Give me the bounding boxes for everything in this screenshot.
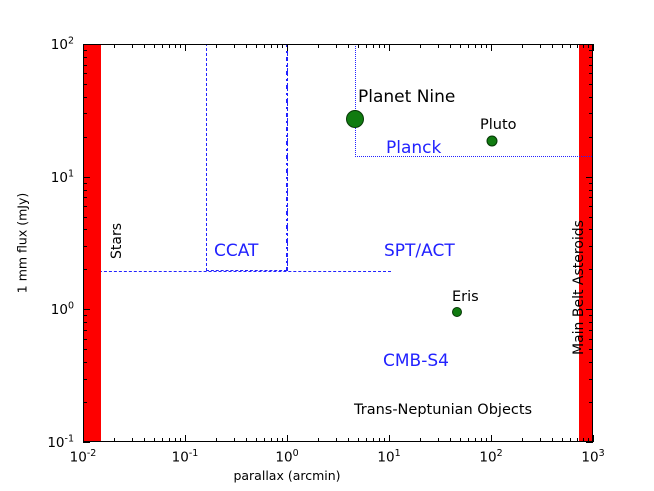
- y-tick-minor: [589, 315, 593, 316]
- x-tick-minor: [234, 438, 235, 442]
- label-spt-act: SPT/ACT: [384, 241, 455, 261]
- y-tick-minor: [83, 113, 87, 114]
- y-tick-minor: [83, 349, 87, 350]
- x-tick-minor: [348, 44, 349, 48]
- y-tick-minor: [83, 197, 87, 198]
- y-tick-minor: [83, 330, 87, 331]
- y-tick-minor: [83, 229, 87, 230]
- x-tick-minor: [144, 44, 145, 48]
- x-tick-major: [287, 435, 288, 442]
- y-tick-minor: [83, 137, 87, 138]
- x-tick-minor: [282, 44, 283, 48]
- y-tick-label: 10-1: [47, 433, 74, 451]
- x-tick-minor: [169, 438, 170, 442]
- x-tick-minor: [583, 44, 584, 48]
- y-tick-minor: [589, 113, 593, 114]
- y-tick-minor: [83, 183, 87, 184]
- x-tick-minor: [450, 438, 451, 442]
- label-pluto: Pluto: [480, 117, 517, 133]
- y-tick-minor: [589, 379, 593, 380]
- y-tick-minor: [83, 190, 87, 191]
- x-axis-title: parallax (arcmin): [233, 468, 340, 483]
- label-main-belt-asteroids: Main Belt Asteroids: [571, 220, 587, 355]
- x-tick-minor: [540, 438, 541, 442]
- y-tick-minor: [589, 97, 593, 98]
- x-tick-minor: [475, 44, 476, 48]
- x-tick-minor: [522, 44, 523, 48]
- x-tick-minor: [216, 438, 217, 442]
- y-tick-minor: [83, 73, 87, 74]
- x-tick-major: [185, 435, 186, 442]
- label-eris: Eris: [452, 289, 479, 305]
- x-tick-minor: [264, 44, 265, 48]
- y-tick-minor: [83, 65, 87, 66]
- y-tick-minor: [83, 402, 87, 403]
- y-tick-minor: [589, 349, 593, 350]
- x-tick-minor: [366, 438, 367, 442]
- x-tick-minor: [460, 44, 461, 48]
- y-tick-minor: [83, 315, 87, 316]
- y-tick-minor: [589, 362, 593, 363]
- x-tick-major: [83, 435, 84, 442]
- x-tick-minor: [144, 438, 145, 442]
- x-tick-minor: [577, 44, 578, 48]
- x-tick-minor: [481, 438, 482, 442]
- x-tick-minor: [552, 44, 553, 48]
- y-tick-major: [83, 442, 90, 443]
- y-tick-minor: [83, 84, 87, 85]
- x-tick-minor: [216, 44, 217, 48]
- y-tick-minor: [589, 197, 593, 198]
- x-tick-minor: [562, 44, 563, 48]
- y-tick-minor: [83, 362, 87, 363]
- x-tick-minor: [234, 44, 235, 48]
- x-tick-minor: [570, 44, 571, 48]
- x-tick-minor: [132, 438, 133, 442]
- x-tick-minor: [277, 44, 278, 48]
- x-tick-minor: [373, 438, 374, 442]
- survey-region-ccat-right-edge: [287, 44, 288, 271]
- label-planck: Planck: [386, 138, 441, 158]
- x-tick-minor: [336, 438, 337, 442]
- x-tick-minor: [438, 438, 439, 442]
- x-tick-minor: [154, 438, 155, 442]
- y-tick-major: [586, 44, 593, 45]
- x-tick-label: 100: [275, 448, 298, 466]
- x-tick-minor: [475, 438, 476, 442]
- y-tick-major: [586, 442, 593, 443]
- x-tick-minor: [373, 44, 374, 48]
- y-tick-minor: [589, 330, 593, 331]
- x-tick-minor: [468, 44, 469, 48]
- y-tick-minor: [83, 50, 87, 51]
- x-tick-minor: [384, 438, 385, 442]
- x-tick-major: [593, 44, 594, 51]
- x-tick-minor: [256, 438, 257, 442]
- label-cmb-s4: CMB-S4: [383, 351, 449, 371]
- x-tick-minor: [154, 44, 155, 48]
- label-stars: Stars: [109, 223, 125, 259]
- y-tick-minor: [83, 217, 87, 218]
- x-tick-minor: [379, 438, 380, 442]
- y-tick-minor: [589, 269, 593, 270]
- y-tick-label: 102: [51, 35, 74, 53]
- y-tick-minor: [83, 57, 87, 58]
- x-tick-minor: [114, 44, 115, 48]
- label-ccat: CCAT: [214, 241, 258, 261]
- y-tick-minor: [83, 322, 87, 323]
- x-tick-major: [287, 44, 288, 51]
- band-stars: [84, 45, 101, 442]
- data-point-planet-nine[interactable]: [346, 110, 364, 128]
- x-tick-minor: [246, 438, 247, 442]
- y-tick-minor: [83, 379, 87, 380]
- x-tick-major: [389, 44, 390, 51]
- x-tick-minor: [246, 44, 247, 48]
- x-tick-minor: [583, 438, 584, 442]
- x-tick-minor: [180, 438, 181, 442]
- plot-area: Stars Main Belt Asteroids Planet Nine Pl…: [83, 44, 593, 442]
- y-tick-minor: [589, 229, 593, 230]
- x-tick-minor: [162, 438, 163, 442]
- x-tick-major: [185, 44, 186, 51]
- y-tick-major: [586, 177, 593, 178]
- x-tick-major: [389, 435, 390, 442]
- x-tick-minor: [460, 438, 461, 442]
- x-tick-minor: [468, 438, 469, 442]
- x-tick-minor: [175, 44, 176, 48]
- x-tick-minor: [577, 438, 578, 442]
- y-tick-major: [83, 177, 90, 178]
- x-tick-minor: [540, 44, 541, 48]
- x-tick-minor: [282, 438, 283, 442]
- x-tick-minor: [384, 44, 385, 48]
- x-tick-minor: [264, 438, 265, 442]
- x-tick-minor: [348, 438, 349, 442]
- y-tick-minor: [83, 97, 87, 98]
- label-planet-nine: Planet Nine: [358, 87, 455, 107]
- x-tick-major: [491, 44, 492, 51]
- x-tick-minor: [132, 44, 133, 48]
- y-tick-minor: [83, 269, 87, 270]
- y-tick-minor: [589, 137, 593, 138]
- y-tick-minor: [589, 183, 593, 184]
- x-tick-minor: [486, 44, 487, 48]
- y-tick-major: [586, 309, 593, 310]
- x-tick-minor: [318, 44, 319, 48]
- y-tick-minor: [589, 73, 593, 74]
- x-tick-minor: [420, 438, 421, 442]
- x-tick-minor: [562, 438, 563, 442]
- y-tick-minor: [589, 190, 593, 191]
- x-tick-label: 10-1: [172, 448, 199, 466]
- y-tick-label: 101: [51, 168, 74, 186]
- x-tick-label: 101: [377, 448, 400, 466]
- x-tick-label: 103: [581, 448, 604, 466]
- x-tick-minor: [358, 438, 359, 442]
- x-tick-minor: [336, 44, 337, 48]
- x-tick-major: [593, 435, 594, 442]
- x-tick-minor: [366, 44, 367, 48]
- y-tick-minor: [589, 57, 593, 58]
- y-tick-minor: [83, 339, 87, 340]
- x-tick-minor: [180, 44, 181, 48]
- figure-canvas: Stars Main Belt Asteroids Planet Nine Pl…: [0, 0, 654, 491]
- x-tick-major: [491, 435, 492, 442]
- y-tick-minor: [589, 322, 593, 323]
- label-trans-neptunian-objects: Trans-Neptunian Objects: [354, 402, 532, 418]
- x-tick-minor: [175, 438, 176, 442]
- y-tick-major: [83, 44, 90, 45]
- x-tick-minor: [162, 44, 163, 48]
- data-point-eris[interactable]: [452, 307, 462, 317]
- y-tick-major: [83, 309, 90, 310]
- x-tick-minor: [552, 438, 553, 442]
- y-tick-minor: [589, 246, 593, 247]
- y-tick-minor: [83, 246, 87, 247]
- y-axis-title: 1 mm flux (mJy): [15, 193, 30, 293]
- x-tick-minor: [450, 44, 451, 48]
- y-tick-label: 100: [51, 301, 74, 319]
- y-tick-minor: [589, 84, 593, 85]
- data-point-pluto[interactable]: [487, 136, 498, 147]
- y-tick-minor: [589, 65, 593, 66]
- x-tick-minor: [481, 44, 482, 48]
- x-tick-minor: [358, 44, 359, 48]
- x-tick-minor: [522, 438, 523, 442]
- y-tick-minor: [589, 217, 593, 218]
- y-tick-minor: [589, 402, 593, 403]
- y-tick-minor: [589, 339, 593, 340]
- y-tick-minor: [83, 206, 87, 207]
- y-tick-minor: [589, 50, 593, 51]
- survey-region-ccat: [206, 44, 287, 271]
- x-tick-minor: [256, 44, 257, 48]
- x-tick-minor: [271, 44, 272, 48]
- x-tick-minor: [271, 438, 272, 442]
- x-tick-minor: [570, 438, 571, 442]
- x-tick-minor: [379, 44, 380, 48]
- x-tick-minor: [486, 438, 487, 442]
- x-tick-minor: [420, 44, 421, 48]
- x-tick-minor: [277, 438, 278, 442]
- x-tick-minor: [114, 438, 115, 442]
- x-tick-minor: [169, 44, 170, 48]
- x-tick-label: 102: [479, 448, 502, 466]
- survey-region-cmb-s4: [84, 272, 346, 442]
- x-tick-minor: [318, 438, 319, 442]
- x-tick-minor: [438, 44, 439, 48]
- y-tick-minor: [589, 206, 593, 207]
